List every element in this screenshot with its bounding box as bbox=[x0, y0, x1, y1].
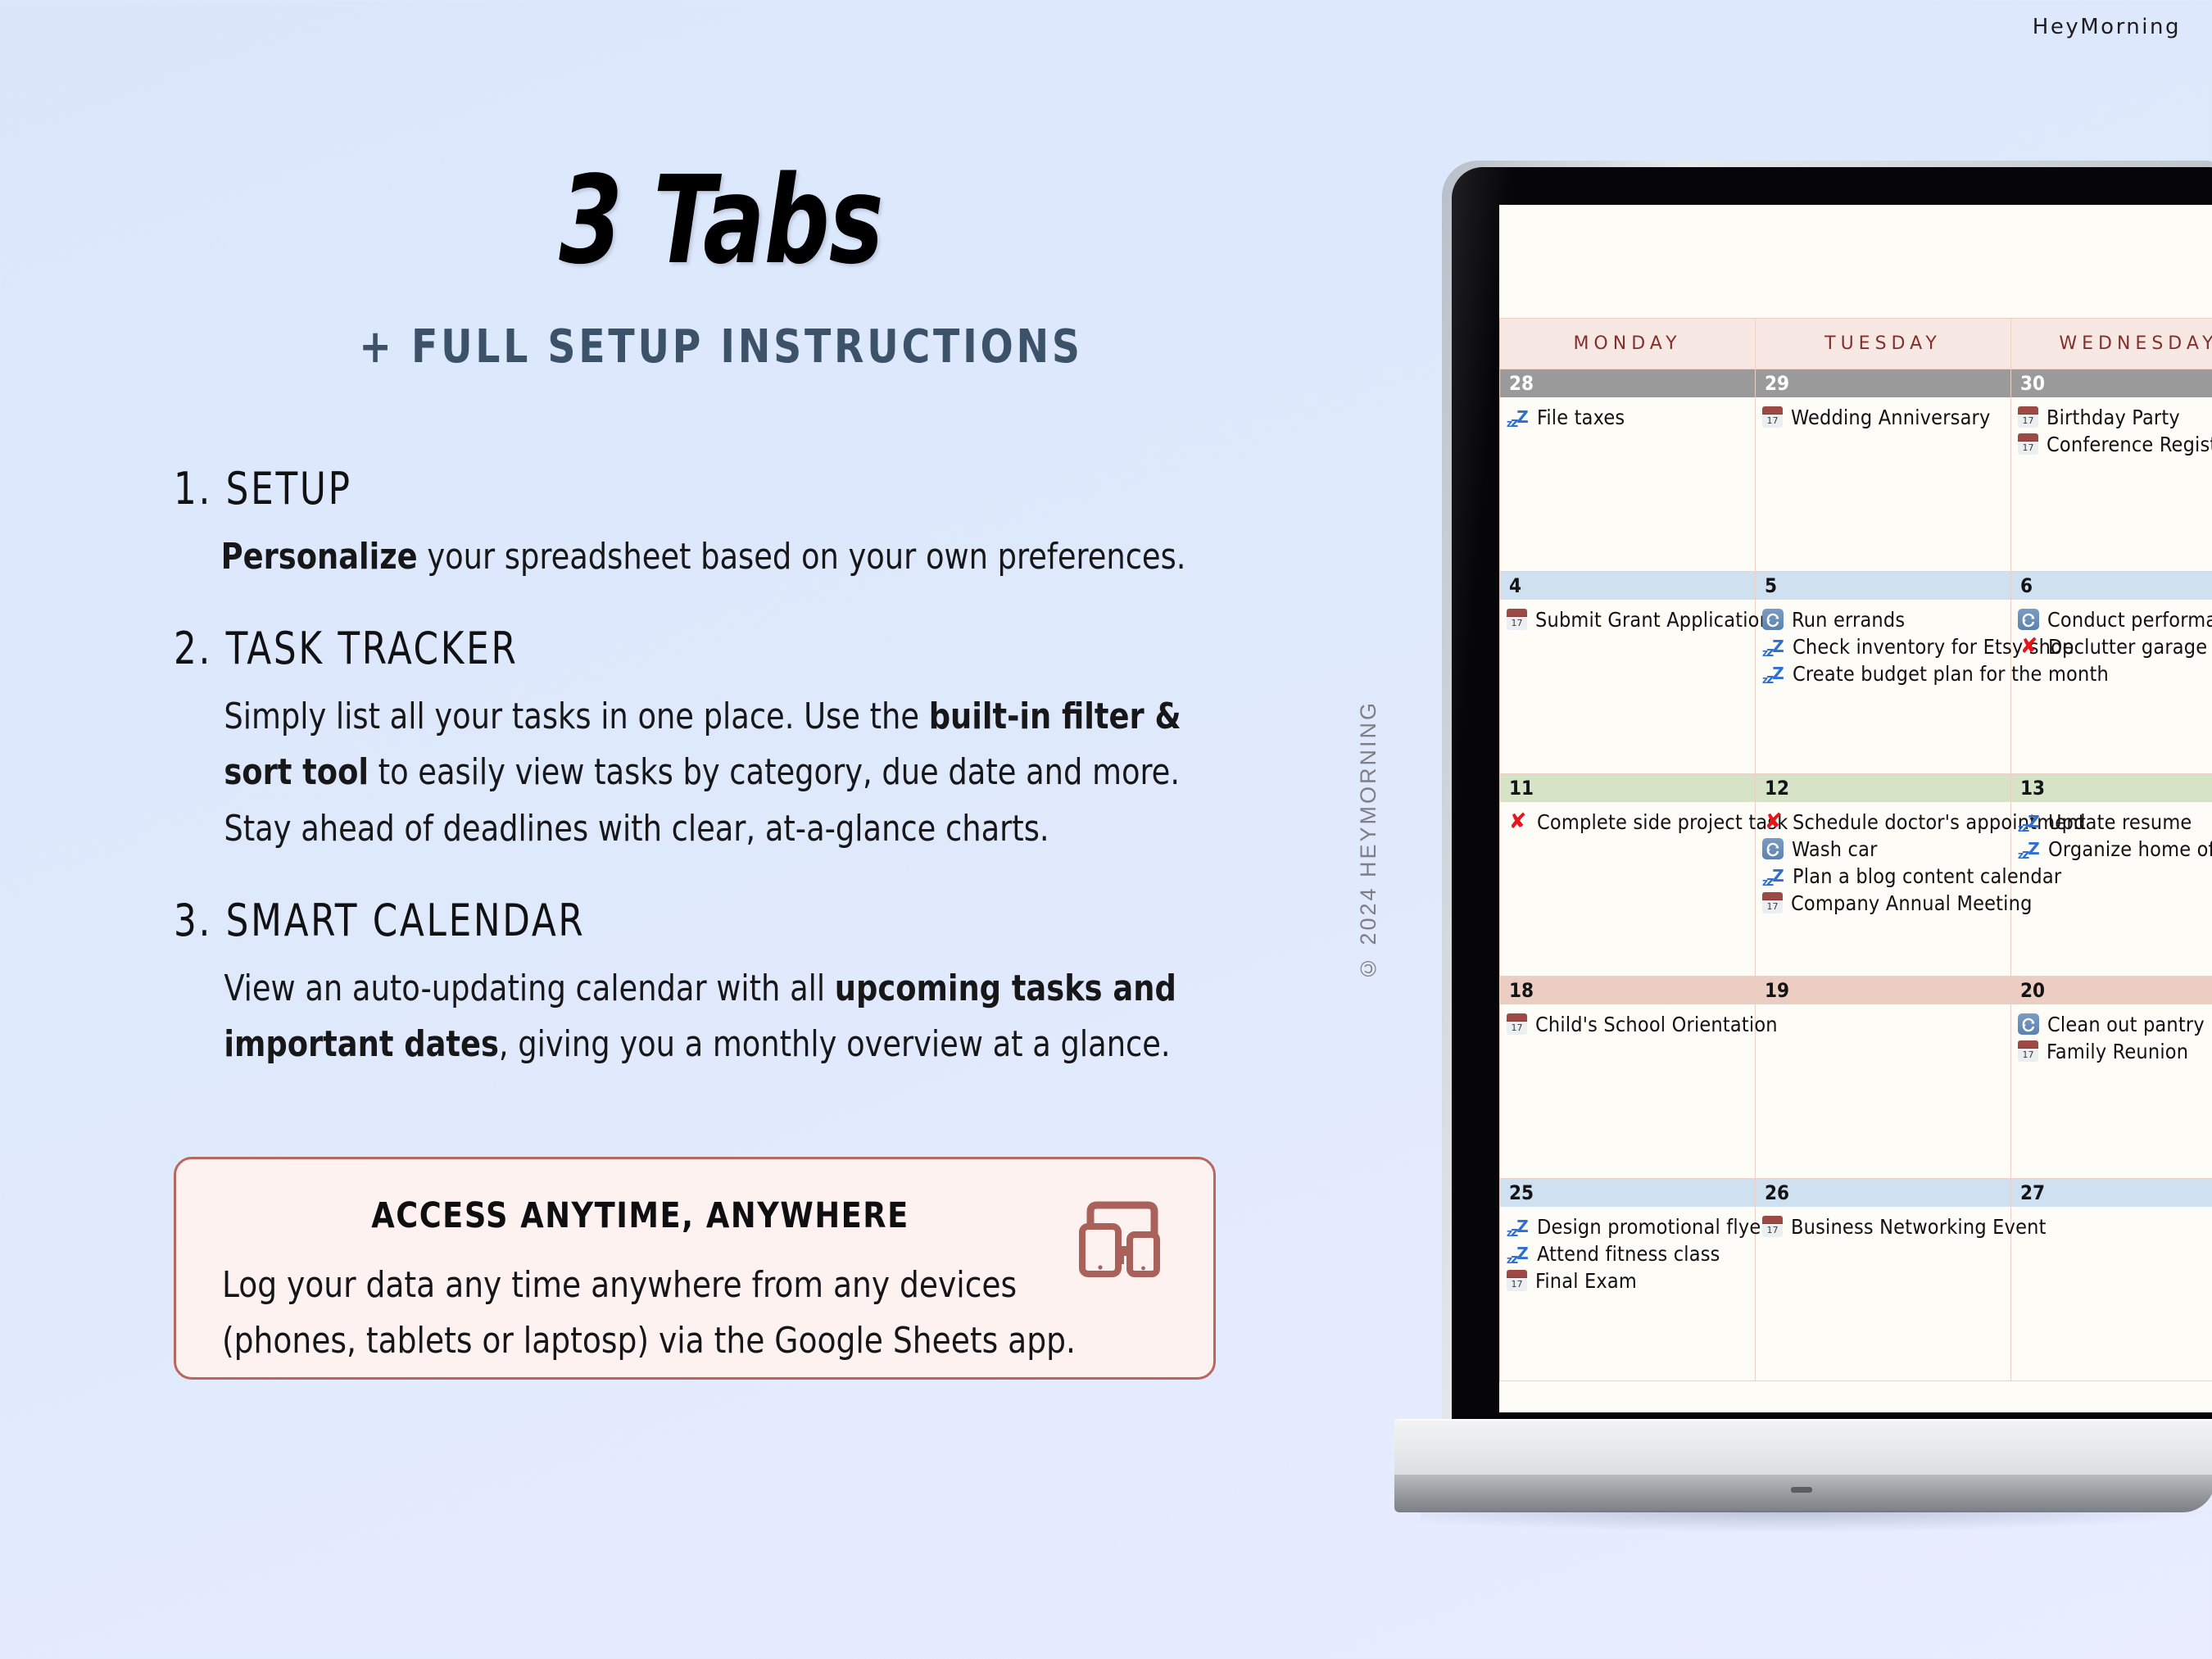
calendar-event[interactable]: 17Submit Grant Application bbox=[1507, 606, 1750, 633]
calendar-day-cell[interactable]: zzZFile taxes bbox=[1500, 397, 1756, 572]
calendar-event-label: Declutter garage bbox=[2048, 635, 2207, 659]
calendar-day-cell[interactable]: Conduct performance review✘Declutter gar… bbox=[2011, 600, 2212, 774]
access-card-text: Log your data any time anywhere from any… bbox=[222, 1258, 1120, 1369]
calendar-date-number[interactable]: 29 bbox=[1756, 369, 2011, 397]
calendar-event-label: Final Exam bbox=[1535, 1269, 1637, 1293]
calendar-date-number[interactable]: 5 bbox=[1756, 572, 2011, 600]
step-heading: 2. TASK TRACKER bbox=[174, 623, 1154, 674]
calendar-event[interactable]: 17Child's School Orientation bbox=[1507, 1011, 1750, 1038]
devices-icon bbox=[1079, 1199, 1167, 1277]
calendar-view: MONDAY TUESDAY WEDNESDAY THURSDAY 282930… bbox=[1499, 205, 2212, 1381]
calendar-event-label: Company Annual Meeting bbox=[1791, 891, 2033, 915]
page-title: 3 Tabs bbox=[116, 160, 1326, 281]
calendar-top-spacer bbox=[1499, 205, 2212, 318]
page-subtitle: + FULL SETUP INSTRUCTIONS bbox=[43, 320, 1398, 374]
laptop-base-top bbox=[1394, 1419, 2212, 1475]
step-item-task-tracker: 2. TASK TRACKER Simply list all your tas… bbox=[174, 623, 1263, 857]
calendar-week-row: zzZDesign promotional flyerzzZAttend fit… bbox=[1500, 1207, 2212, 1381]
calendar-event-label: Complete side project task bbox=[1537, 810, 1788, 834]
calendar-event-label: Child's School Orientation bbox=[1535, 1013, 1778, 1036]
calendar-17-icon: 17 bbox=[2018, 1040, 2038, 1062]
steps-list: 1. SETUP Personalize your spreadsheet ba… bbox=[174, 463, 1263, 1110]
calendar-event[interactable]: 17Business Networking Event bbox=[1762, 1213, 2006, 1240]
left-content-panel: 3 Tabs + FULL SETUP INSTRUCTIONS 1. SETU… bbox=[0, 0, 1360, 1659]
repeat-icon bbox=[1762, 838, 1784, 859]
laptop-base bbox=[1388, 1419, 2212, 1527]
calendar-day-cell[interactable]: Clean out pantry17Family Reunion bbox=[2011, 1004, 2212, 1179]
calendar-week-row: ✘Complete side project task✘Schedule doc… bbox=[1500, 802, 2212, 977]
repeat-icon bbox=[1762, 609, 1784, 630]
repeat-icon bbox=[2018, 1013, 2039, 1035]
calendar-event-label: Conduct performance review bbox=[2047, 608, 2212, 632]
calendar-event-label: Plan a blog content calendar bbox=[1793, 864, 2061, 888]
calendar-date-number[interactable]: 13 bbox=[2011, 774, 2212, 802]
calendar-date-number[interactable]: 26 bbox=[1756, 1179, 2011, 1207]
calendar-day-cell[interactable]: 17Child's School Orientation bbox=[1500, 1004, 1756, 1179]
laptop-mockup: MONDAY TUESDAY WEDNESDAY THURSDAY 282930… bbox=[1388, 161, 2212, 1504]
brand-logo: HeyMorning bbox=[2033, 15, 2181, 39]
access-anywhere-card: ACCESS ANYTIME, ANYWHERE Log your data a… bbox=[174, 1157, 1216, 1380]
calendar-event-label: Attend fitness class bbox=[1537, 1242, 1720, 1266]
calendar-event[interactable]: Conduct performance review bbox=[2018, 606, 2212, 633]
calendar-event-label: Wedding Anniversary bbox=[1791, 406, 1991, 429]
repeat-icon bbox=[2018, 609, 2039, 630]
access-card-title: ACCESS ANYTIME, ANYWHERE bbox=[246, 1195, 1144, 1236]
calendar-day-cell[interactable]: 17Wedding Anniversary bbox=[1756, 397, 2011, 572]
calendar-event-label: Birthday Party bbox=[2047, 406, 2180, 429]
calendar-day-header: TUESDAY bbox=[1756, 319, 2011, 369]
step-heading: 1. SETUP bbox=[174, 463, 1154, 514]
calendar-event[interactable]: zzZDesign promotional flyer bbox=[1507, 1213, 1750, 1240]
hero-block: 3 Tabs + FULL SETUP INSTRUCTIONS bbox=[0, 160, 1442, 374]
calendar-17-icon: 17 bbox=[1507, 609, 1527, 630]
step-description: Personalize your spreadsheet based on yo… bbox=[174, 529, 1187, 585]
calendar-event[interactable]: zzZCreate budget plan for the month bbox=[1762, 660, 2006, 687]
calendar-17-icon: 17 bbox=[1762, 1216, 1783, 1237]
calendar-day-cell[interactable]: ✘Schedule doctor's appointmentWash carzz… bbox=[1756, 802, 2011, 977]
calendar-event[interactable]: zzZFile taxes bbox=[1507, 404, 1750, 431]
calendar-day-cell[interactable]: Run errandszzZCheck inventory for Etsy s… bbox=[1756, 600, 2011, 774]
calendar-date-number[interactable]: 12 bbox=[1756, 774, 2011, 802]
zzz-icon: zzZ bbox=[1507, 406, 1529, 428]
red-x-icon: ✘ bbox=[1762, 811, 1784, 833]
laptop-base-notch bbox=[1791, 1487, 1812, 1493]
calendar-date-row: 18192021 bbox=[1500, 977, 2212, 1004]
calendar-day-header-row: MONDAY TUESDAY WEDNESDAY THURSDAY bbox=[1500, 319, 2212, 369]
calendar-date-number[interactable]: 30 bbox=[2011, 369, 2212, 397]
calendar-date-number[interactable]: 18 bbox=[1500, 977, 1756, 1004]
calendar-table: MONDAY TUESDAY WEDNESDAY THURSDAY 282930… bbox=[1499, 318, 2212, 1381]
copyright-text: © 2024 HEYMORNING bbox=[1356, 700, 1381, 981]
calendar-day-cell[interactable]: ✘Complete side project task bbox=[1500, 802, 1756, 977]
calendar-17-icon: 17 bbox=[1762, 406, 1783, 428]
calendar-week-row: 17Submit Grant ApplicationRun errandszzZ… bbox=[1500, 600, 2212, 774]
calendar-17-icon: 17 bbox=[2018, 406, 2038, 428]
calendar-event-label: Schedule doctor's appointment bbox=[1793, 810, 2086, 834]
calendar-event-label: Family Reunion bbox=[2047, 1040, 2188, 1063]
calendar-event[interactable]: 17Conference Registration bbox=[2018, 431, 2212, 458]
calendar-date-number[interactable]: 28 bbox=[1500, 369, 1756, 397]
calendar-event[interactable]: Run errands bbox=[1762, 606, 2006, 633]
calendar-event-label: Clean out pantry bbox=[2047, 1013, 2205, 1036]
zzz-icon: zzZ bbox=[2018, 838, 2040, 860]
zzz-icon: zzZ bbox=[1762, 636, 1784, 658]
calendar-event[interactable]: zzZAttend fitness class bbox=[1507, 1240, 1750, 1267]
calendar-event[interactable]: 17Wedding Anniversary bbox=[1762, 404, 2006, 431]
calendar-event[interactable]: Clean out pantry bbox=[2018, 1011, 2212, 1038]
calendar-date-number[interactable]: 25 bbox=[1500, 1179, 1756, 1207]
calendar-date-row: 28293031 bbox=[1500, 369, 2212, 397]
calendar-event-label: Design promotional flyer bbox=[1537, 1215, 1769, 1239]
calendar-body: 28293031zzZFile taxes17Wedding Anniversa… bbox=[1500, 369, 2212, 1381]
calendar-date-number[interactable]: 11 bbox=[1500, 774, 1756, 802]
calendar-day-cell[interactable]: 17Birthday Party17Conference Registratio… bbox=[2011, 397, 2212, 572]
step-description: View an auto-updating calendar with all … bbox=[174, 961, 1187, 1072]
calendar-event[interactable]: Wash car bbox=[1762, 836, 2006, 863]
calendar-date-number[interactable]: 19 bbox=[1756, 977, 2011, 1004]
calendar-day-header: WEDNESDAY bbox=[2011, 319, 2212, 369]
calendar-event[interactable]: 17Final Exam bbox=[1507, 1267, 1750, 1294]
step-item-smart-calendar: 3. SMART CALENDAR View an auto-updating … bbox=[174, 895, 1263, 1072]
calendar-day-cell[interactable]: 17Business Networking Event bbox=[1756, 1207, 2011, 1381]
step-description: Simply list all your tasks in one place.… bbox=[174, 689, 1187, 857]
calendar-date-row: 25262728 bbox=[1500, 1179, 2212, 1207]
zzz-icon: zzZ bbox=[2018, 811, 2040, 833]
calendar-17-icon: 17 bbox=[2018, 433, 2038, 455]
laptop-base-bottom bbox=[1394, 1475, 2212, 1512]
step-item-setup: 1. SETUP Personalize your spreadsheet ba… bbox=[174, 463, 1263, 585]
calendar-event-label: Create budget plan for the month bbox=[1793, 662, 2109, 686]
calendar-event[interactable]: 17Birthday Party bbox=[2018, 404, 2212, 431]
step-heading: 3. SMART CALENDAR bbox=[174, 895, 1154, 946]
calendar-date-number[interactable]: 20 bbox=[2011, 977, 2212, 1004]
calendar-event[interactable]: ✘Complete side project task bbox=[1507, 809, 1750, 836]
calendar-week-row: 17Child's School OrientationClean out pa… bbox=[1500, 1004, 2212, 1179]
calendar-event-label: Submit Grant Application bbox=[1535, 608, 1771, 632]
calendar-event-label: Conference Registration bbox=[2047, 433, 2212, 456]
calendar-day-header: MONDAY bbox=[1500, 319, 1756, 369]
calendar-date-row: 4567 bbox=[1500, 572, 2212, 600]
calendar-date-number[interactable]: 4 bbox=[1500, 572, 1756, 600]
calendar-event[interactable]: zzZPlan a blog content calendar bbox=[1762, 863, 2006, 890]
zzz-icon: zzZ bbox=[1762, 865, 1784, 887]
zzz-icon: zzZ bbox=[1507, 1243, 1529, 1265]
zzz-icon: zzZ bbox=[1762, 663, 1784, 685]
zzz-icon: zzZ bbox=[1507, 1216, 1529, 1238]
red-x-icon: ✘ bbox=[2018, 636, 2040, 658]
calendar-date-number[interactable]: 27 bbox=[2011, 1179, 2212, 1207]
calendar-event[interactable]: 17Family Reunion bbox=[2018, 1038, 2212, 1065]
calendar-event-label: Business Networking Event bbox=[1791, 1215, 2047, 1239]
calendar-17-icon: 17 bbox=[1507, 1013, 1527, 1035]
laptop-screen: MONDAY TUESDAY WEDNESDAY THURSDAY 282930… bbox=[1499, 205, 2212, 1412]
calendar-17-icon: 17 bbox=[1507, 1270, 1527, 1291]
calendar-event-label: File taxes bbox=[1537, 406, 1625, 429]
calendar-event-label: Organize home office bbox=[2048, 837, 2212, 861]
calendar-day-cell[interactable]: zzZDesign promotional flyerzzZAttend fit… bbox=[1500, 1207, 1756, 1381]
red-x-icon: ✘ bbox=[1507, 811, 1529, 833]
calendar-date-number[interactable]: 6 bbox=[2011, 572, 2212, 600]
calendar-event[interactable]: zzZCheck inventory for Etsy shop bbox=[1762, 633, 2006, 660]
calendar-event-label: Wash car bbox=[1792, 837, 1878, 861]
calendar-event[interactable]: zzZOrganize home office bbox=[2018, 836, 2212, 863]
calendar-event[interactable]: 17Company Annual Meeting bbox=[1762, 890, 2006, 917]
laptop-shadow bbox=[1421, 1511, 2212, 1532]
calendar-17-icon: 17 bbox=[1762, 892, 1783, 913]
calendar-day-cell[interactable] bbox=[1756, 1004, 2011, 1179]
calendar-event[interactable]: ✘Schedule doctor's appointment bbox=[1762, 809, 2006, 836]
calendar-day-cell[interactable]: 17Submit Grant Application bbox=[1500, 600, 1756, 774]
calendar-week-row: zzZFile taxes17Wedding Anniversary17Birt… bbox=[1500, 397, 2212, 572]
calendar-date-row: 11121314 bbox=[1500, 774, 2212, 802]
calendar-event-label: Update resume bbox=[2048, 810, 2192, 834]
calendar-event-label: Run errands bbox=[1792, 608, 1905, 632]
